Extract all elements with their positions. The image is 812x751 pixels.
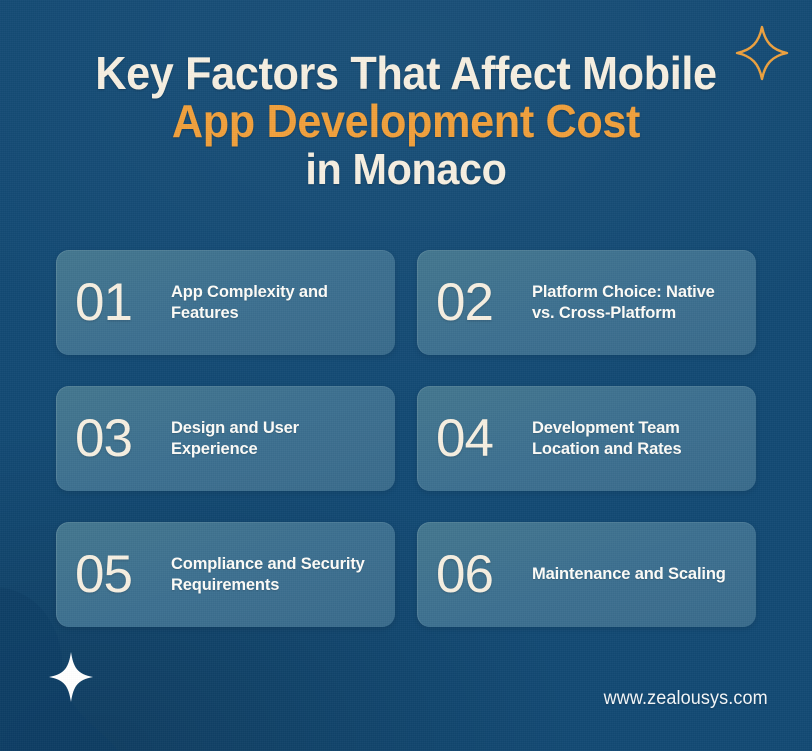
factor-number: 01 (75, 276, 171, 329)
factor-card-03[interactable]: 03 Design and User Experience (56, 386, 395, 491)
factor-label: Development Team Location and Rates (532, 418, 740, 460)
four-point-star-outline-icon (735, 25, 789, 81)
factor-number: 05 (75, 548, 171, 601)
website-url[interactable]: www.zealousys.com (604, 688, 768, 710)
factor-card-05[interactable]: 05 Compliance and Security Requirements (56, 522, 395, 627)
four-point-star-filled-icon (48, 652, 94, 702)
page-title: Key Factors That Affect Mobile App Devel… (0, 50, 812, 193)
factor-label: Design and User Experience (171, 418, 379, 460)
title-line-3: in Monaco (24, 146, 787, 193)
factor-number: 03 (75, 412, 171, 465)
factor-card-02[interactable]: 02 Platform Choice: Native vs. Cross-Pla… (417, 250, 756, 355)
title-line-2: App Development Cost (24, 98, 787, 145)
factor-label: Maintenance and Scaling (532, 564, 740, 585)
factor-card-01[interactable]: 01 App Complexity and Features (56, 250, 395, 355)
factor-number: 02 (436, 276, 532, 329)
factor-number: 04 (436, 412, 532, 465)
factor-card-06[interactable]: 06 Maintenance and Scaling (417, 522, 756, 627)
infographic-poster: Key Factors That Affect Mobile App Devel… (0, 0, 812, 751)
factor-label: Platform Choice: Native vs. Cross-Platfo… (532, 282, 740, 324)
factors-grid: 01 App Complexity and Features 02 Platfo… (56, 250, 756, 627)
factor-label: Compliance and Security Requirements (171, 554, 379, 596)
factor-number: 06 (436, 548, 532, 601)
factor-label: App Complexity and Features (171, 282, 379, 324)
factor-card-04[interactable]: 04 Development Team Location and Rates (417, 386, 756, 491)
title-line-1: Key Factors That Affect Mobile (24, 50, 787, 97)
